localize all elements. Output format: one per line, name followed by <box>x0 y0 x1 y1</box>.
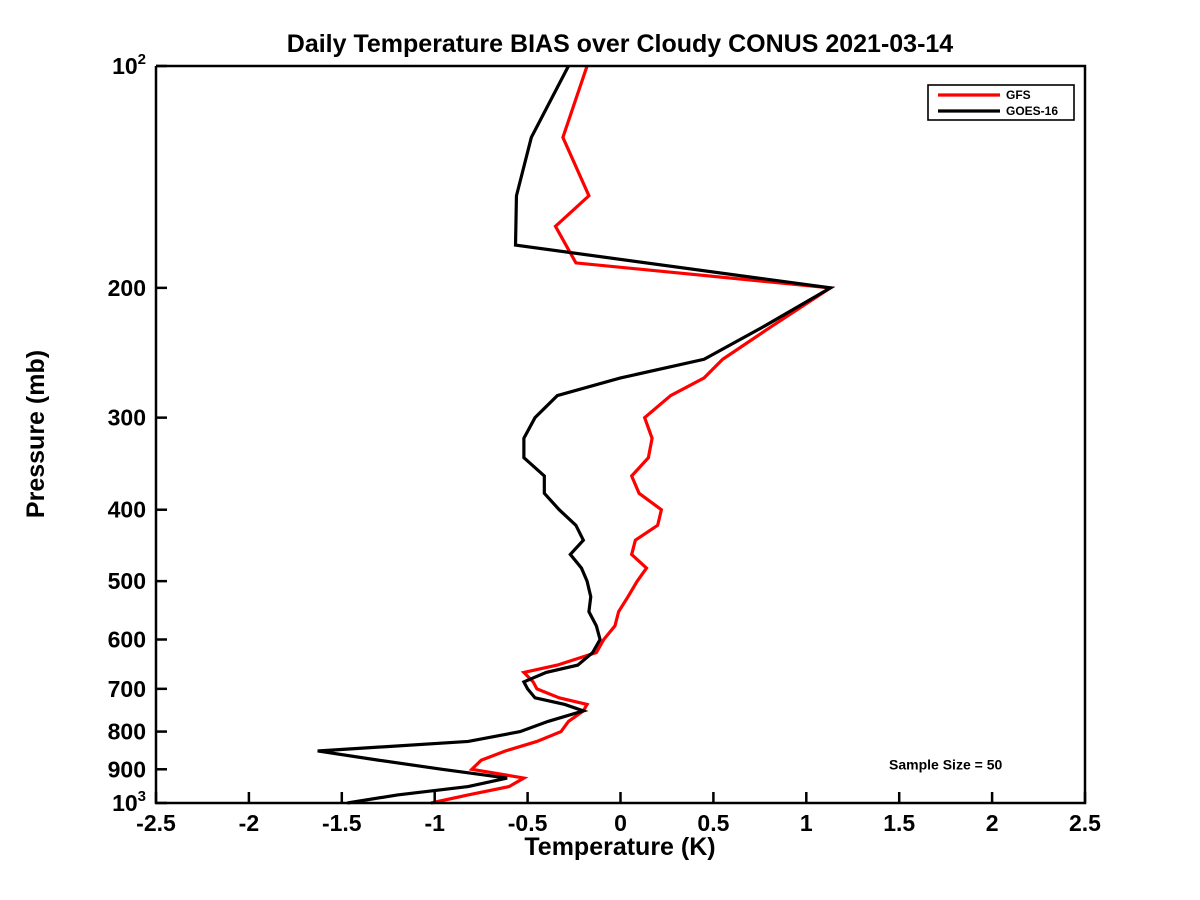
y-tick-label: 900 <box>108 756 146 782</box>
y-tick-label: 300 <box>108 405 146 431</box>
y-tick-label: 102 <box>112 51 146 79</box>
chart-title: Daily Temperature BIAS over Cloudy CONUS… <box>287 30 954 58</box>
y-tick-label: 800 <box>108 719 146 745</box>
x-tick-label: 2.5 <box>1069 810 1101 836</box>
plot-frame <box>156 66 1085 803</box>
series-line-goes-16 <box>318 66 831 803</box>
series-line-gfs <box>431 66 830 803</box>
y-tick-label: 500 <box>108 568 146 594</box>
x-tick-label: 1 <box>800 810 813 836</box>
y-tick-label: 200 <box>108 275 146 301</box>
y-tick-label: 600 <box>108 626 146 652</box>
x-tick-label: -1.5 <box>322 810 362 836</box>
x-axis-label: Temperature (K) <box>524 833 715 861</box>
legend-label-gfs: GFS <box>1006 88 1031 102</box>
y-axis-label: Pressure (mb) <box>22 350 50 518</box>
annotations-layer: Sample Size = 50 <box>889 756 1002 772</box>
temperature-bias-profile-chart: Daily Temperature BIAS over Cloudy CONUS… <box>0 0 1200 900</box>
series-layer <box>318 66 831 803</box>
x-tick-label: -2.5 <box>136 810 176 836</box>
x-tick-label: 1.5 <box>883 810 915 836</box>
y-axis-ticks: 102200300400500600700800900103 <box>108 51 167 816</box>
figure-container: Daily Temperature BIAS over Cloudy CONUS… <box>0 0 1200 900</box>
x-tick-label: 2 <box>986 810 999 836</box>
axes-layer <box>156 66 1085 803</box>
x-tick-label: -2 <box>239 810 259 836</box>
y-tick-label: 700 <box>108 676 146 702</box>
x-tick-label: -1 <box>424 810 445 836</box>
x-axis-ticks: -2.5-2-1.5-1-0.500.511.522.5 <box>136 792 1101 836</box>
legend-label-goes16: GOES-16 <box>1006 104 1058 118</box>
y-tick-label: 400 <box>108 497 146 523</box>
sample-size: Sample Size = 50 <box>889 756 1002 772</box>
chart-legend: GFS GOES-16 <box>928 85 1074 120</box>
